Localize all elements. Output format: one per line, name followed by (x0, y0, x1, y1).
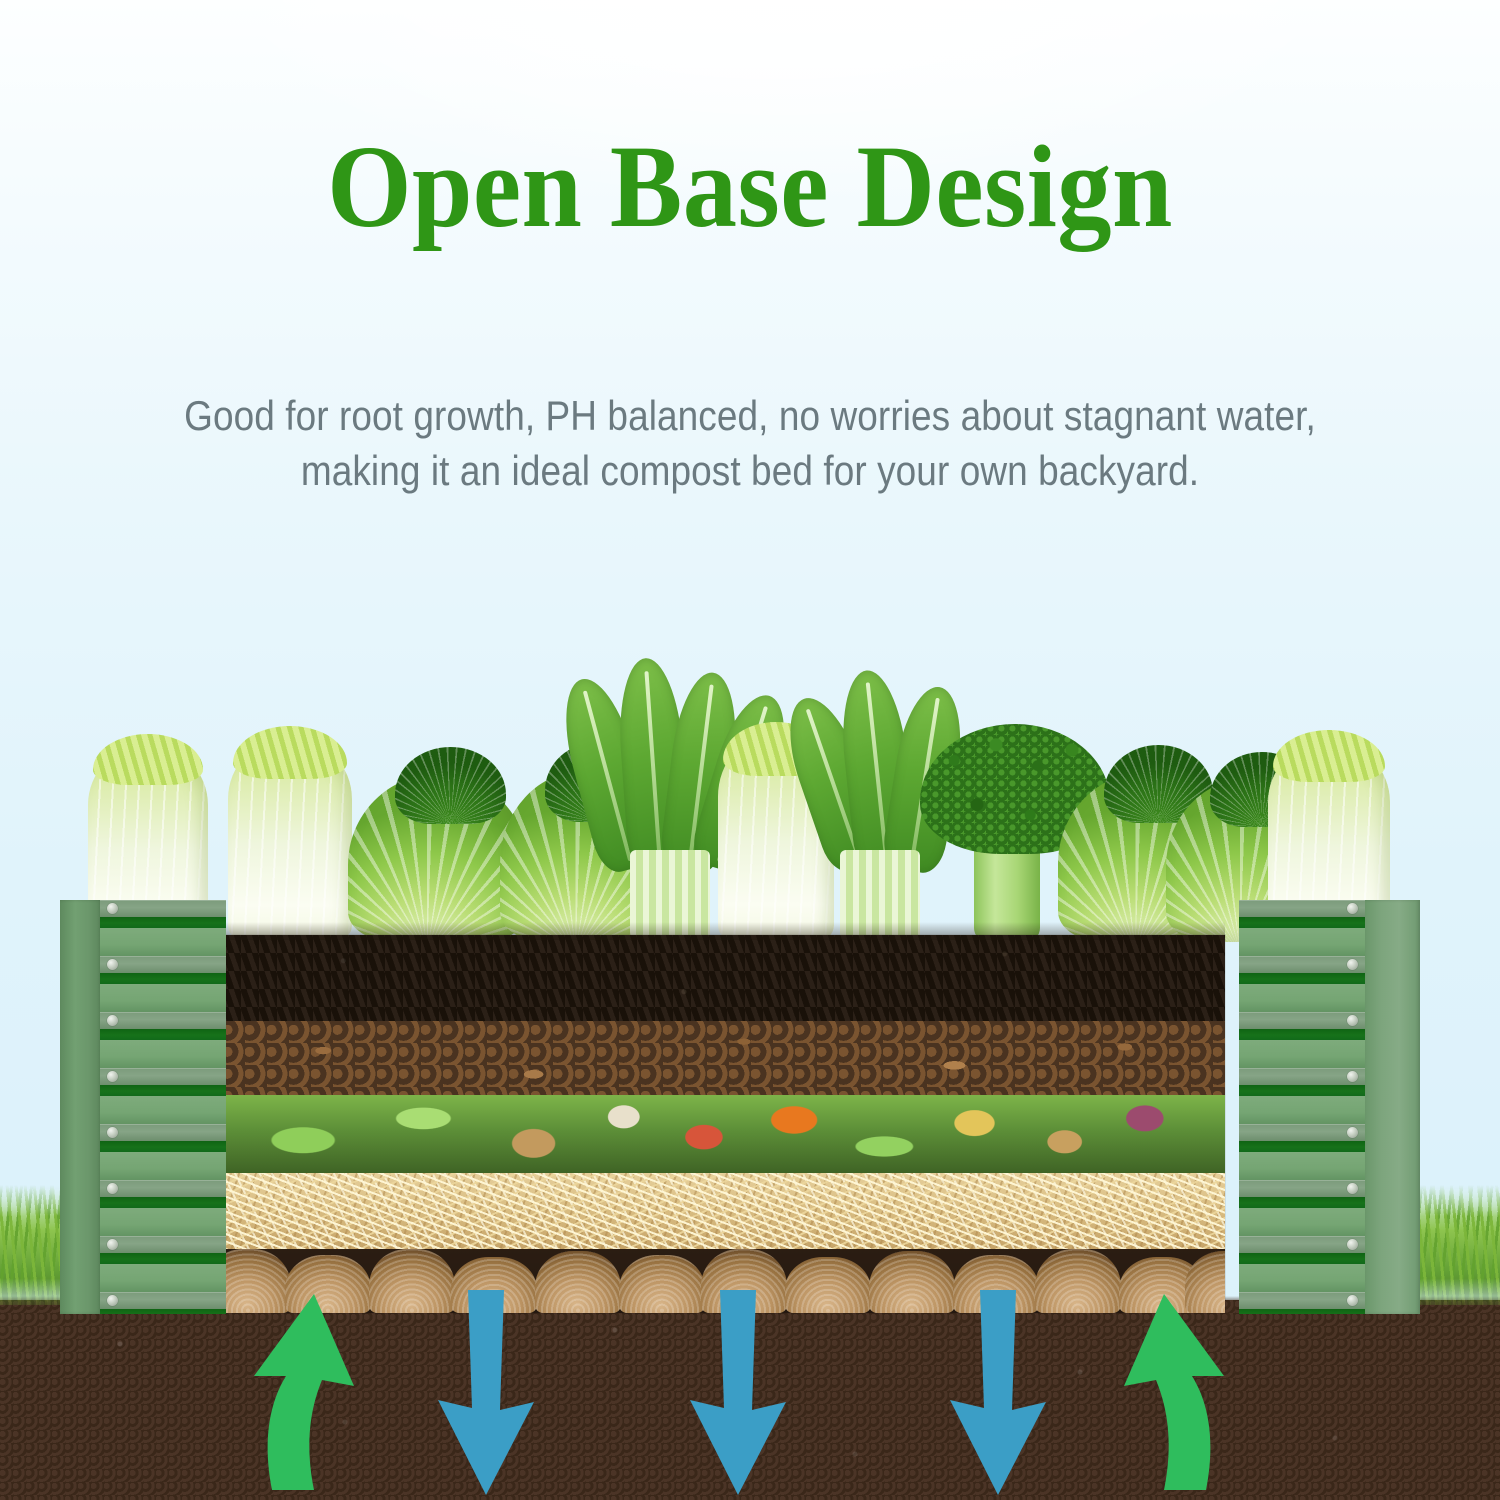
screw-icon (1347, 959, 1358, 970)
bed-rib (1239, 1180, 1365, 1236)
rib-lip (100, 1012, 226, 1029)
rib-face (1239, 928, 1365, 956)
bed-rib (1239, 1012, 1365, 1068)
rib-shadow (1239, 1197, 1365, 1208)
bed-rib (100, 956, 226, 1012)
rib-lip (100, 956, 226, 973)
rib-shadow (1239, 1253, 1365, 1264)
bed-corner-post-right (1365, 900, 1420, 1314)
rib-shadow (100, 1029, 226, 1040)
rib-shadow (100, 1197, 226, 1208)
subtitle-line-1: Good for root growth, PH balanced, no wo… (184, 392, 1316, 439)
screw-icon (107, 903, 118, 914)
bed-cross-section (223, 935, 1225, 1313)
bed-rib (100, 1180, 226, 1236)
rib-lip (100, 900, 226, 917)
bed-rib (1239, 1124, 1365, 1180)
layer-food-scraps (223, 1095, 1225, 1173)
arrow-drain-1 (430, 1290, 550, 1495)
rib-shadow (1239, 1085, 1365, 1096)
rib-face (1239, 1152, 1365, 1180)
rib-face (100, 984, 226, 1012)
bed-rib (1239, 1068, 1365, 1124)
screw-icon (107, 1183, 118, 1194)
screw-icon (1347, 1071, 1358, 1082)
page-title: Open Base Design (60, 128, 1440, 246)
bed-corner-post-left (60, 900, 102, 1314)
arrow-drain-3 (942, 1290, 1062, 1495)
screw-icon (1347, 1127, 1358, 1138)
rib-shadow (100, 1141, 226, 1152)
rib-lip (100, 1068, 226, 1085)
rib-face (1239, 1096, 1365, 1124)
rib-face (100, 1152, 226, 1180)
screw-icon (107, 1127, 118, 1138)
layer-topsoil (223, 935, 1225, 1021)
rib-face (1239, 1264, 1365, 1292)
product-feature-image: Open Base Design Good for root growth, P… (0, 0, 1500, 1500)
rib-face (100, 1264, 226, 1292)
rib-shadow (100, 1253, 226, 1264)
bed-rib (100, 1124, 226, 1180)
arrow-drain-2 (682, 1290, 802, 1495)
rib-face (100, 928, 226, 956)
screw-icon (107, 1015, 118, 1026)
bed-rib (1239, 956, 1365, 1012)
page-subtitle: Good for root growth, PH balanced, no wo… (64, 388, 1437, 499)
airflow-arrow-group (0, 1290, 1500, 1500)
rib-shadow (100, 973, 226, 984)
rib-face (100, 1208, 226, 1236)
rib-lip (100, 1180, 226, 1197)
bed-rib (100, 900, 226, 956)
rib-shadow (100, 917, 226, 928)
rib-shadow (1239, 1141, 1365, 1152)
bed-rib (1239, 1236, 1365, 1292)
rib-shadow (1239, 1029, 1365, 1040)
layer-bark-mulch (223, 1021, 1225, 1095)
rib-face (1239, 1208, 1365, 1236)
arrow-air-in-left (230, 1290, 370, 1490)
bed-rib (100, 1068, 226, 1124)
layer-straw (223, 1173, 1225, 1249)
rib-face (100, 1040, 226, 1068)
arrow-air-in-right (1108, 1290, 1248, 1490)
bed-rib (100, 1012, 226, 1068)
rib-shadow (100, 1085, 226, 1096)
rib-lip (100, 1124, 226, 1141)
screw-icon (107, 959, 118, 970)
screw-icon (1347, 903, 1358, 914)
screw-icon (107, 1239, 118, 1250)
soil-top-shadow (223, 922, 1225, 940)
rib-shadow (1239, 917, 1365, 928)
screw-icon (1347, 1183, 1358, 1194)
bed-rib (100, 1236, 226, 1292)
bed-ribs-left (100, 900, 226, 1314)
bed-ribs-right (1239, 900, 1365, 1314)
screw-icon (107, 1071, 118, 1082)
rib-lip (100, 1236, 226, 1253)
rib-face (100, 1096, 226, 1124)
subtitle-line-2: making it an ideal compost bed for your … (64, 443, 1437, 498)
screw-icon (1347, 1015, 1358, 1026)
screw-icon (1347, 1239, 1358, 1250)
rib-face (1239, 1040, 1365, 1068)
bed-rib (1239, 900, 1365, 956)
rib-shadow (1239, 973, 1365, 984)
rib-face (1239, 984, 1365, 1012)
